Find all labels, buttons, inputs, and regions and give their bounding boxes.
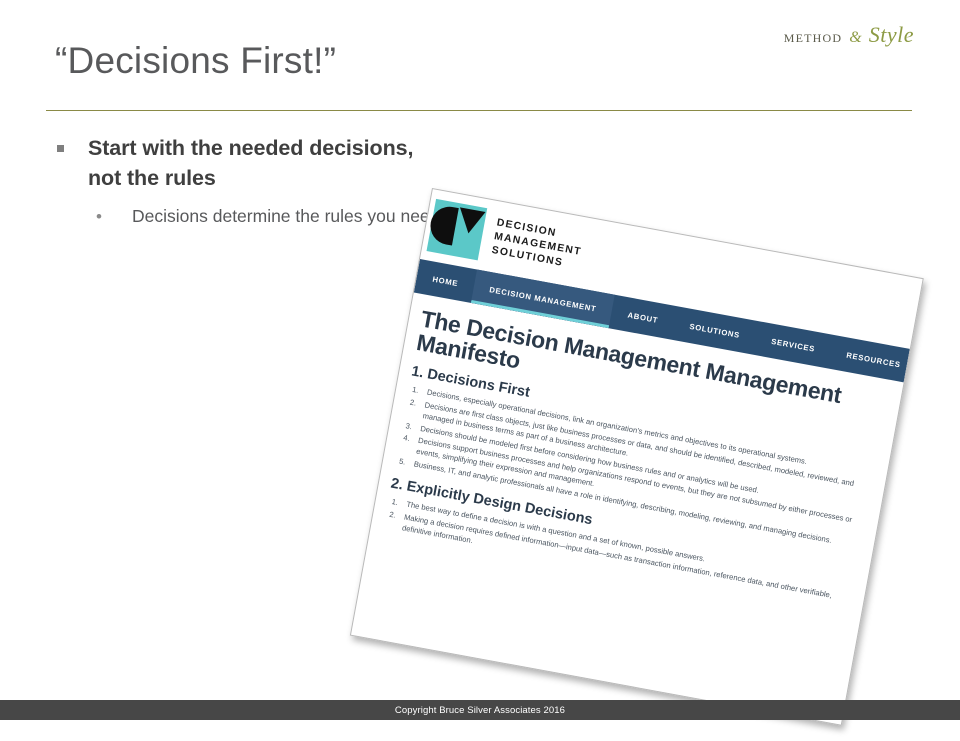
brand-method-text: Method xyxy=(784,27,843,47)
bullet-level2: • Decisions determine the rules you need xyxy=(52,203,452,230)
square-bullet-icon xyxy=(52,133,88,163)
browser-page: DECISION MANAGEMENT SOLUTIONS HOME DECIS… xyxy=(350,188,924,726)
bullet-level2-label: Decisions determine the rules you need xyxy=(132,203,439,230)
dot-bullet-icon: • xyxy=(96,203,132,230)
brand-ampersand: & xyxy=(849,29,861,47)
slide: Method & Style “Decisions First!” Start … xyxy=(0,0,960,720)
footer-bar: Copyright Bruce Silver Associates 2016 xyxy=(0,700,960,720)
page-title: “Decisions First!” xyxy=(55,40,336,82)
brand-logo: Method & Style xyxy=(784,22,914,48)
copyright-text: Copyright Bruce Silver Associates 2016 xyxy=(395,705,565,716)
website-screenshot: DECISION MANAGEMENT SOLUTIONS HOME DECIS… xyxy=(347,188,924,741)
dms-logo-mark-icon xyxy=(427,199,488,261)
bullet-level1: Start with the needed decisions, not the… xyxy=(52,133,452,193)
dms-logo-text: DECISION MANAGEMENT SOLUTIONS xyxy=(490,216,585,273)
bullet-level1-label: Start with the needed decisions, not the… xyxy=(88,133,452,193)
bullet-list: Start with the needed decisions, not the… xyxy=(52,133,452,230)
brand-style-text: Style xyxy=(869,22,914,48)
title-divider xyxy=(46,110,912,111)
